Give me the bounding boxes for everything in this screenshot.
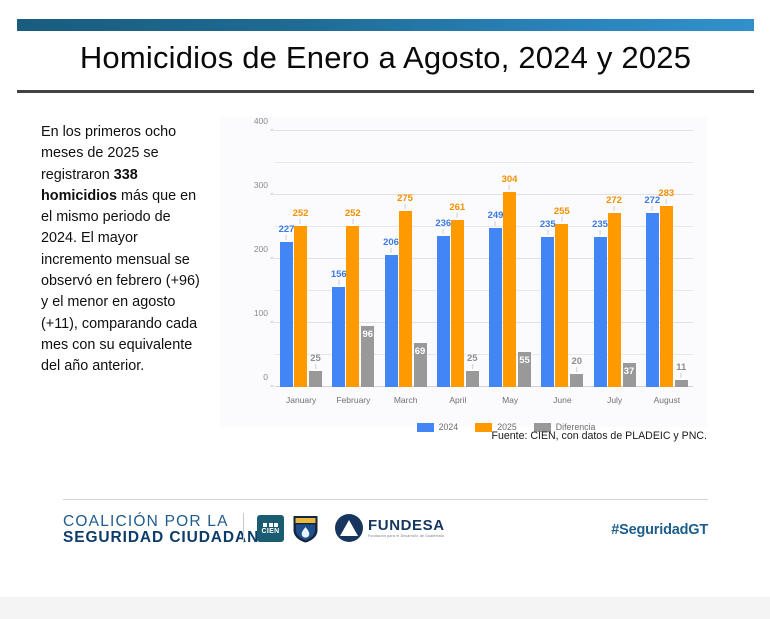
chart-x-tick-label: June — [553, 395, 571, 405]
footer: COALICIÓN POR LA SEGURIDAD CIUDADANA CIE… — [63, 512, 708, 556]
chart-y-tick-mark — [270, 322, 274, 323]
chart-bar-group: 22725225January — [275, 131, 327, 387]
title-divider — [17, 90, 754, 93]
chart-value-label: 235 — [592, 219, 608, 230]
chart-value-label: 69 — [415, 346, 426, 357]
fundesa-wordmark: FUNDESA Fundación para el Desarrollo de … — [368, 518, 445, 538]
chart-bar[interactable]: 261 — [451, 220, 464, 387]
header-accent-bar — [17, 19, 754, 31]
fundesa-name: FUNDESA — [368, 518, 445, 533]
chart-bar[interactable]: 252 — [294, 226, 307, 387]
chart-bar[interactable]: 55 — [518, 352, 531, 387]
coalicion-line-2: SEGURIDAD CIUDADANA — [63, 530, 271, 546]
chart-bar[interactable]: 235 — [594, 237, 607, 387]
chart-value-label: 255 — [554, 206, 570, 217]
chart-x-tick-label: March — [394, 395, 418, 405]
chart-value-label: 252 — [293, 208, 309, 219]
chart-y-tick-mark — [270, 386, 274, 387]
chart-bar[interactable]: 11 — [675, 380, 688, 387]
footer-logo-separator — [243, 513, 244, 543]
page-title: Homicidios de Enero a Agosto, 2024 y 202… — [17, 40, 754, 76]
chart-bar[interactable]: 272 — [646, 213, 659, 387]
cien-logo-icon: CIEN — [257, 515, 284, 542]
chart-bar[interactable]: 235 — [541, 237, 554, 387]
chart-bar[interactable]: 304 — [503, 192, 516, 387]
slide: Homicidios de Enero a Agosto, 2024 y 202… — [0, 0, 770, 597]
chart-bar[interactable]: 69 — [414, 343, 427, 387]
chart-value-label: 272 — [606, 195, 622, 206]
chart-value-label: 37 — [624, 366, 635, 377]
chart-bar[interactable]: 37 — [623, 363, 636, 387]
chart-bar[interactable]: 96 — [361, 326, 374, 387]
chart-value-label: 261 — [449, 202, 465, 213]
chart-bar-group: 20627569March — [380, 131, 432, 387]
fundesa-mark-icon — [335, 514, 363, 542]
chart-bar[interactable]: 236 — [437, 236, 450, 387]
chart-value-label: 252 — [345, 208, 361, 219]
cien-dots — [263, 523, 278, 527]
chart-bar[interactable]: 227 — [280, 242, 293, 387]
fundesa-logo: FUNDESA Fundación para el Desarrollo de … — [335, 514, 445, 542]
narrative-part-1: En los primeros ocho meses de 2025 se re… — [41, 124, 176, 183]
chart-bar[interactable]: 252 — [346, 226, 359, 387]
chart-bar-group: 27228311August — [641, 131, 693, 387]
chart-plot-area: 010020030040022725225January15625296Febr… — [275, 131, 693, 387]
chart-value-label: 11 — [676, 362, 686, 373]
chart-bar-group: 23525520June — [536, 131, 588, 387]
chart-x-tick-label: April — [449, 395, 466, 405]
chart-x-tick-label: May — [502, 395, 518, 405]
chart-bar[interactable]: 283 — [660, 206, 673, 387]
chart-y-tick-mark — [270, 194, 274, 195]
chart-value-label: 227 — [279, 224, 295, 235]
chart-value-label: 206 — [383, 237, 399, 248]
footer-divider — [63, 499, 708, 500]
chart-bar[interactable]: 206 — [385, 255, 398, 387]
chart-x-tick-label: February — [336, 395, 370, 405]
chart-value-label: 249 — [488, 210, 504, 221]
chart-bar[interactable]: 255 — [555, 224, 568, 387]
chart-bar-group: 23626125April — [432, 131, 484, 387]
chart-value-label: 236 — [435, 218, 451, 229]
chart-y-tick-label: 300 — [254, 180, 268, 190]
chart-bar[interactable]: 275 — [399, 211, 412, 387]
chart-value-label: 25 — [467, 353, 478, 364]
chart-value-label: 283 — [658, 188, 674, 199]
chart-value-label: 55 — [519, 355, 530, 366]
chart-y-tick-label: 100 — [254, 308, 268, 318]
chart-x-tick-label: August — [654, 395, 680, 405]
narrative-text: En los primeros ocho meses de 2025 se re… — [41, 122, 207, 378]
chart-bar-group: 15625296February — [327, 131, 379, 387]
chart-bar[interactable]: 156 — [332, 287, 345, 387]
bottom-band — [0, 597, 770, 619]
chart-bar-group: 24930455May — [484, 131, 536, 387]
chart-bar[interactable]: 25 — [309, 371, 322, 387]
chart-y-tick-label: 400 — [254, 116, 268, 126]
coalicion-line-1: COALICIÓN POR LA — [63, 514, 271, 530]
fundesa-tagline: Fundación para el Desarrollo de Guatemal… — [368, 535, 445, 538]
chart-bar[interactable]: 272 — [608, 213, 621, 387]
chart-y-tick-label: 0 — [263, 372, 268, 382]
chart-bar[interactable]: 20 — [570, 374, 583, 387]
narrative-part-2: más que en el mismo periodo de 2024. El … — [41, 188, 200, 374]
hashtag-label: #SeguridadGT — [611, 522, 708, 538]
pnc-shield-icon — [292, 514, 319, 543]
chart-value-label: 96 — [362, 329, 373, 340]
chart-value-label: 235 — [540, 219, 556, 230]
chart-y-tick-mark — [270, 258, 274, 259]
chart-value-label: 275 — [397, 193, 413, 204]
chart-y-tick-mark — [270, 130, 274, 131]
chart-value-label: 20 — [571, 356, 582, 367]
chart-value-label: 156 — [331, 269, 347, 280]
chart-plot: 010020030040022725225January15625296Febr… — [253, 131, 693, 403]
coalicion-logo: COALICIÓN POR LA SEGURIDAD CIUDADANA — [63, 514, 271, 546]
chart-value-label: 25 — [310, 353, 321, 364]
chart-card: 010020030040022725225January15625296Febr… — [220, 117, 707, 427]
chart-bar[interactable]: 25 — [466, 371, 479, 387]
chart-y-tick-label: 200 — [254, 244, 268, 254]
chart-bar-group: 23527237July — [589, 131, 641, 387]
cien-logo-label: CIEN — [262, 528, 280, 535]
chart-x-tick-label: July — [607, 395, 622, 405]
chart-x-tick-label: January — [286, 395, 316, 405]
chart-value-label: 304 — [502, 174, 518, 185]
chart-bar[interactable]: 249 — [489, 228, 502, 387]
chart-source-note: Fuente: CIEN, con datos de PLADEIC y PNC… — [220, 430, 707, 442]
